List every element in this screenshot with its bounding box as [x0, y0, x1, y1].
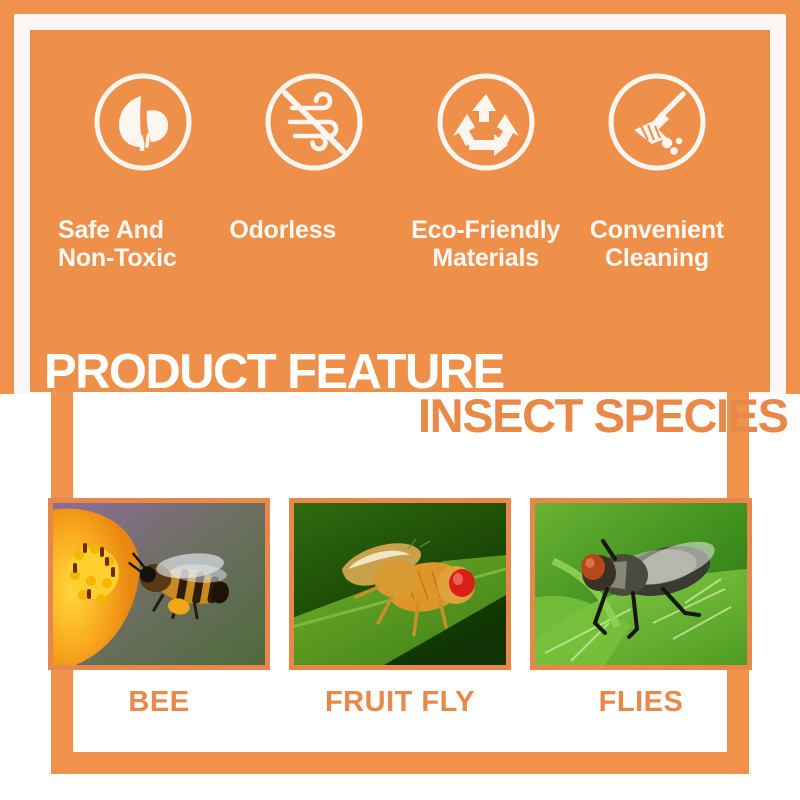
feature-label-line1: Safe And — [58, 216, 164, 244]
feature-label-eco-friendly: Eco-FriendlyMaterials — [411, 216, 560, 272]
feature-label-line1: Convenient — [590, 216, 724, 244]
list-item[interactable]: BEE — [48, 498, 270, 717]
feature-label-odorless: Odorless — [229, 216, 399, 244]
feature-label-line1: Odorless — [229, 216, 336, 244]
no-odor-icon — [262, 70, 366, 174]
house-fly-on-green-leaf-photo — [530, 498, 752, 670]
product-feature-poster: Safe AndNon-Toxic Odorless — [0, 0, 800, 800]
feature-label-convenient-cleaning: ConvenientCleaning — [590, 216, 724, 272]
feature-item-convenient-cleaning: ConvenientCleaning — [572, 70, 742, 272]
card-label: BEE — [128, 688, 189, 717]
recycle-icon — [434, 70, 538, 174]
feature-row: Safe AndNon-Toxic Odorless — [30, 70, 770, 330]
card-label: FRUIT FLY — [325, 688, 475, 717]
feature-label-line2: Cleaning — [605, 244, 709, 272]
feature-label-line2: Materials — [432, 244, 539, 272]
butterfly-leaf-icon — [91, 70, 195, 174]
feature-label-safe-non-toxic: Safe AndNon-Toxic — [58, 216, 228, 272]
feature-label-line2: Non-Toxic — [58, 244, 177, 272]
feature-label-line1: Eco-Friendly — [411, 216, 560, 244]
list-item[interactable]: FRUIT FLY — [289, 498, 511, 717]
broom-icon — [605, 70, 709, 174]
feature-item-safe-non-toxic: Safe AndNon-Toxic — [58, 70, 228, 272]
feature-item-eco-friendly: Eco-FriendlyMaterials — [401, 70, 571, 272]
insect-species-card-list: BEE — [30, 498, 770, 728]
card-label: FLIES — [599, 688, 684, 717]
fruit-fly-on-green-leaf-photo — [289, 498, 511, 670]
section-title-insect-species: INSECT SPECIES — [418, 392, 788, 439]
list-item[interactable]: FLIES — [530, 498, 752, 717]
bee-on-yellow-flower-photo — [48, 498, 270, 670]
feature-item-odorless: Odorless — [229, 70, 399, 244]
frame-bar-bottom — [51, 752, 749, 774]
